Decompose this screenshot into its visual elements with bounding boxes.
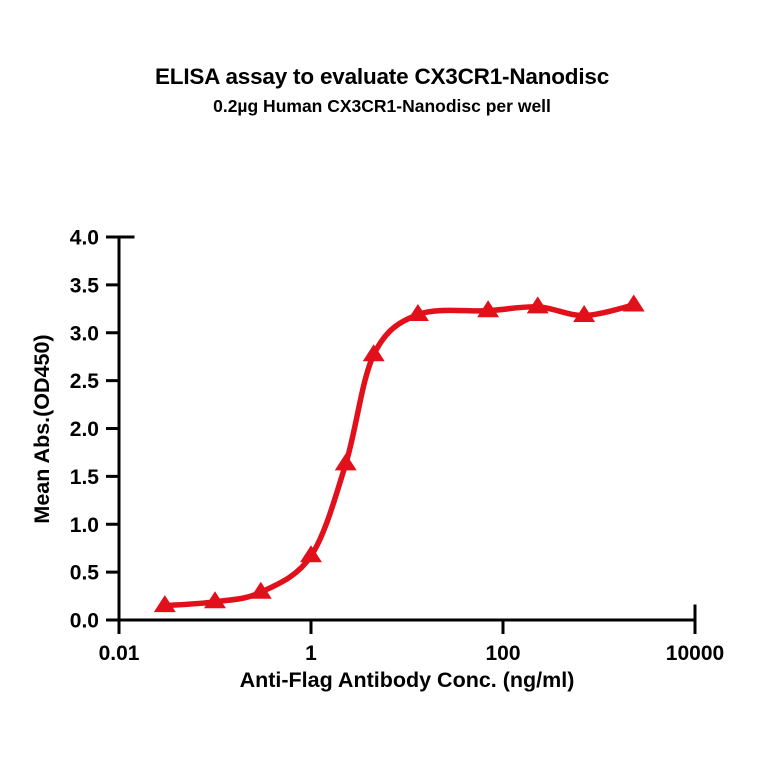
x-axis-ticks	[119, 620, 695, 634]
data-point-marker	[335, 453, 357, 470]
data-point-marker	[623, 294, 645, 311]
y-axis-tick-labels: 0.00.51.01.52.02.53.03.54.0	[70, 227, 100, 633]
x-tick-label: 0.01	[99, 642, 140, 665]
y-tick-label: 3.5	[70, 274, 100, 297]
elisa-assay-figure: ELISA assay to evaluate CX3CR1-Nanodisc …	[0, 0, 764, 764]
y-tick-label: 0.5	[70, 562, 100, 585]
data-series-line	[165, 305, 634, 606]
y-tick-label: 1.5	[70, 466, 100, 489]
y-tick-label: 4.0	[70, 227, 99, 250]
x-tick-label: 10000	[666, 642, 724, 665]
x-axis-tick-labels: 0.01110010000	[99, 642, 725, 665]
x-tick-label: 1	[305, 642, 317, 665]
data-point-marker	[363, 344, 385, 361]
y-tick-label: 3.0	[70, 322, 99, 345]
y-tick-label: 0.0	[70, 610, 99, 633]
chart-plot-area: 0.00.51.01.52.02.53.03.54.0 0.0111001000…	[0, 0, 764, 764]
y-axis-ticks	[106, 237, 119, 620]
y-axis-title: Mean Abs.(OD450)	[30, 334, 54, 523]
y-tick-label: 1.0	[70, 514, 99, 537]
y-tick-label: 2.0	[70, 418, 99, 441]
data-series-markers	[154, 294, 645, 612]
x-tick-label: 100	[485, 642, 520, 665]
y-tick-label: 2.5	[70, 370, 100, 393]
x-axis-title: Anti-Flag Antibody Conc. (ng/ml)	[240, 668, 575, 692]
